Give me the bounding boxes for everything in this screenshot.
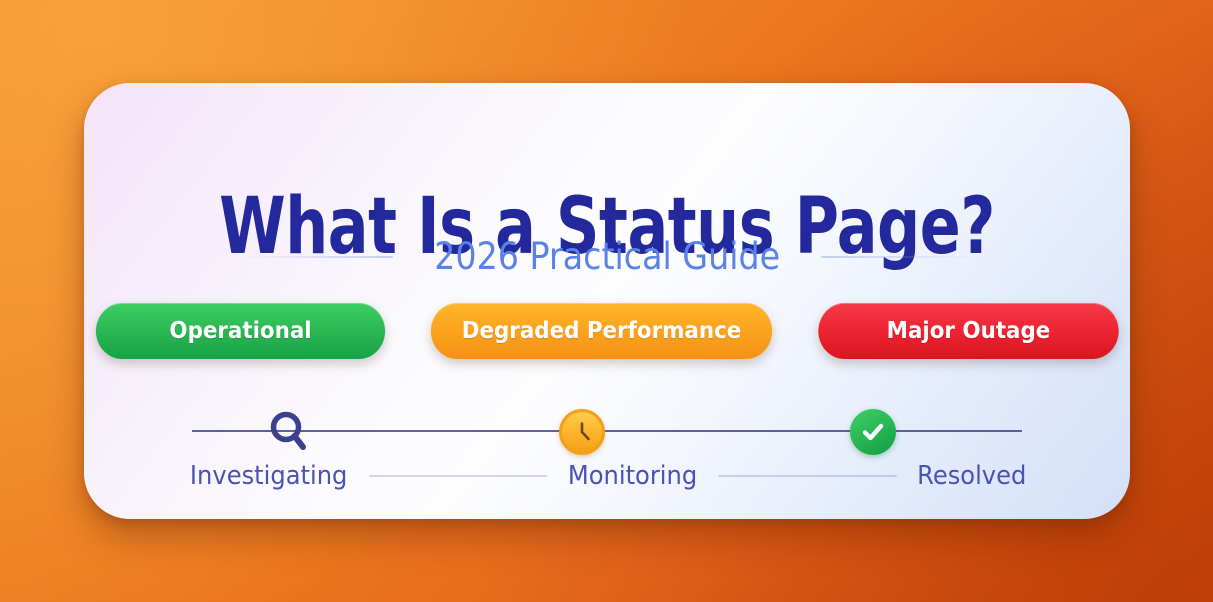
clock-icon — [559, 409, 605, 455]
subtitle-row: 2026 Practical Guide — [84, 238, 1130, 275]
timeline-label-monitoring: Monitoring — [568, 461, 697, 491]
poster-background: What Is a Status Page? 2026 Practical Gu… — [0, 0, 1213, 602]
subtitle-rule-left — [243, 256, 393, 258]
timeline-label-rule — [718, 475, 896, 477]
status-badge-operational[interactable]: Operational — [95, 303, 384, 359]
page-subtitle: 2026 Practical Guide — [434, 238, 780, 275]
timeline-segment — [936, 430, 1022, 432]
status-badge-label: Degraded Performance — [461, 318, 741, 344]
timeline-node-resolved[interactable] — [847, 406, 899, 458]
status-badge-label: Major Outage — [886, 318, 1050, 344]
check-circle-icon — [850, 409, 896, 455]
status-badge-outage[interactable]: Major Outage — [818, 303, 1118, 359]
timeline-label-rule — [369, 475, 547, 477]
status-badge-group: Operational Degraded Performance Major O… — [84, 303, 1130, 359]
timeline-node-monitoring[interactable] — [556, 406, 608, 458]
magnifier-icon — [266, 409, 312, 455]
timeline-label-investigating: Investigating — [190, 461, 347, 491]
status-badge-label: Operational — [169, 318, 311, 344]
status-badge-degraded[interactable]: Degraded Performance — [430, 303, 771, 359]
timeline-labels: Investigating Monitoring Resolved — [184, 461, 1030, 491]
status-page-card: What Is a Status Page? 2026 Practical Gu… — [84, 83, 1130, 519]
incident-timeline: Investigating Monitoring Resolved — [184, 383, 1030, 493]
timeline-node-investigating[interactable] — [263, 406, 315, 458]
subtitle-rule-right — [821, 256, 971, 258]
timeline-label-resolved: Resolved — [917, 461, 1026, 491]
